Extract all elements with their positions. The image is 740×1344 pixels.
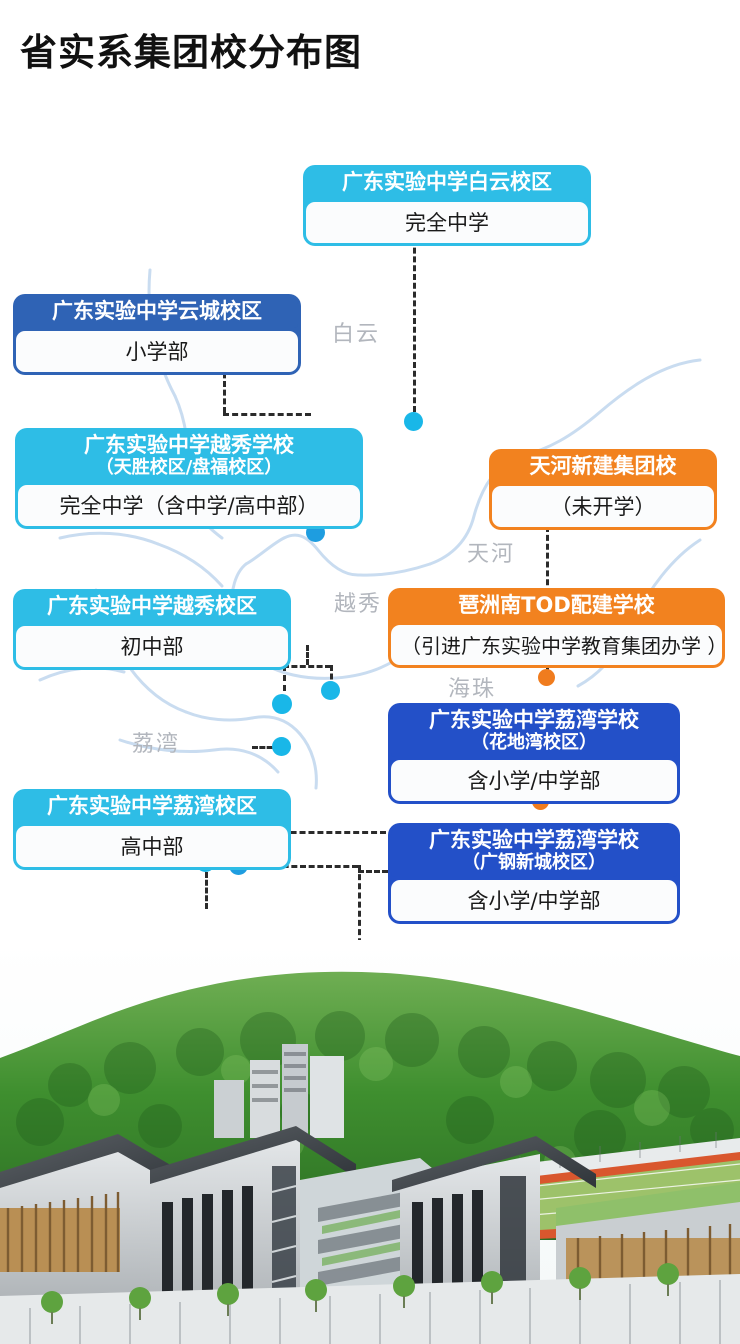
map-marker-tianhe-new[interactable] xyxy=(538,669,555,686)
card-liwan-huadiwan-subtitle: （花地湾校区） xyxy=(401,733,667,753)
card-liwan-guanggang-head: 广东实验中学荔湾学校 （广钢新城校区） xyxy=(391,826,677,877)
district-label-baiyun: 白云 xyxy=(332,316,380,348)
card-baiyun[interactable]: 广东实验中学白云校区 完全中学 xyxy=(303,165,591,246)
card-yuexiu-school-detail: 完全中学（含中学/高中部） xyxy=(18,485,360,526)
card-yuexiu-campus-head: 广东实验中学越秀校区 xyxy=(16,592,288,623)
district-label-liwan: 荔湾 xyxy=(132,726,180,758)
card-yuncheng[interactable]: 广东实验中学云城校区 小学部 xyxy=(13,294,301,375)
card-baiyun-title: 广东实验中学白云校区 xyxy=(316,171,578,195)
card-yuexiu-campus[interactable]: 广东实验中学越秀校区 初中部 xyxy=(13,589,291,670)
connector-liwan-campus xyxy=(205,872,208,909)
card-liwan-huadiwan[interactable]: 广东实验中学荔湾学校 （花地湾校区） 含小学/中学部 xyxy=(388,703,680,804)
page-title: 省实系集团校分布图 xyxy=(20,22,362,76)
connector-yuexiu-school-top xyxy=(306,645,309,665)
campus-photo-svg xyxy=(0,940,740,1344)
card-liwan-campus[interactable]: 广东实验中学荔湾校区 高中部 xyxy=(13,789,291,870)
map-marker-yuexiu-campus[interactable] xyxy=(272,737,291,756)
map-marker-yuexiu-tiansheng[interactable] xyxy=(272,694,292,714)
card-pazhou-tod-head: 琶洲南TOD配建学校 xyxy=(391,591,722,622)
card-pazhou-tod-detail: （引进广东实验中学教育集团办学 ） xyxy=(391,625,722,665)
card-yuexiu-school-subtitle: （天胜校区/盘福校区） xyxy=(28,458,350,478)
card-liwan-guanggang-title: 广东实验中学荔湾学校 xyxy=(401,829,667,853)
card-tianhe-new[interactable]: 天河新建集团校 （未开学） xyxy=(489,449,717,530)
map-stage: 白云 天河 越秀 海珠 荔湾 xyxy=(0,120,740,940)
card-yuexiu-school[interactable]: 广东实验中学越秀学校 （天胜校区/盘福校区） 完全中学（含中学/高中部） xyxy=(15,428,363,529)
district-label-tianhe: 天河 xyxy=(467,536,515,568)
connector-baiyun xyxy=(413,230,416,412)
district-label-haizhu: 海珠 xyxy=(448,671,496,703)
card-liwan-guanggang-detail: 含小学/中学部 xyxy=(391,880,677,921)
card-yuexiu-school-title: 广东实验中学越秀学校 xyxy=(28,434,350,458)
infographic-root: 省实系集团校分布图 xyxy=(0,0,740,1344)
card-liwan-campus-title: 广东实验中学荔湾校区 xyxy=(26,795,278,819)
card-baiyun-head: 广东实验中学白云校区 xyxy=(306,168,588,199)
card-yuncheng-head: 广东实验中学云城校区 xyxy=(16,297,298,328)
card-yuncheng-detail: 小学部 xyxy=(16,331,298,372)
card-baiyun-detail: 完全中学 xyxy=(306,202,588,243)
connector-yuexiu-school-h xyxy=(283,665,331,668)
connector-guanggang-h2 xyxy=(358,870,388,873)
card-liwan-guanggang-subtitle: （广钢新城校区） xyxy=(401,853,667,873)
card-yuexiu-campus-title: 广东实验中学越秀校区 xyxy=(26,595,278,619)
card-pazhou-tod-title: 琶洲南TOD配建学校 xyxy=(401,594,712,618)
map-marker-baiyun[interactable] xyxy=(404,412,423,431)
card-liwan-huadiwan-head: 广东实验中学荔湾学校 （花地湾校区） xyxy=(391,706,677,757)
card-liwan-campus-head: 广东实验中学荔湾校区 xyxy=(16,792,288,823)
card-yuncheng-title: 广东实验中学云城校区 xyxy=(26,300,288,324)
card-yuexiu-school-head: 广东实验中学越秀学校 （天胜校区/盘福校区） xyxy=(18,431,360,482)
card-tianhe-new-title: 天河新建集团校 xyxy=(502,455,704,479)
card-liwan-huadiwan-title: 广东实验中学荔湾学校 xyxy=(401,709,667,733)
card-tianhe-new-head: 天河新建集团校 xyxy=(492,452,714,483)
campus-aerial-photo xyxy=(0,940,740,1344)
district-label-yuexiu: 越秀 xyxy=(334,586,382,618)
card-liwan-guanggang[interactable]: 广东实验中学荔湾学校 （广钢新城校区） 含小学/中学部 xyxy=(388,823,680,924)
connector-yuncheng-h xyxy=(223,413,311,416)
card-yuexiu-campus-detail: 初中部 xyxy=(16,626,288,667)
map-marker-yuexiu-panfu[interactable] xyxy=(321,681,340,700)
card-liwan-huadiwan-detail: 含小学/中学部 xyxy=(391,760,677,801)
card-pazhou-tod[interactable]: 琶洲南TOD配建学校 （引进广东实验中学教育集团办学 ） xyxy=(388,588,725,668)
card-liwan-campus-detail: 高中部 xyxy=(16,826,288,867)
card-tianhe-new-detail: （未开学） xyxy=(492,486,714,527)
